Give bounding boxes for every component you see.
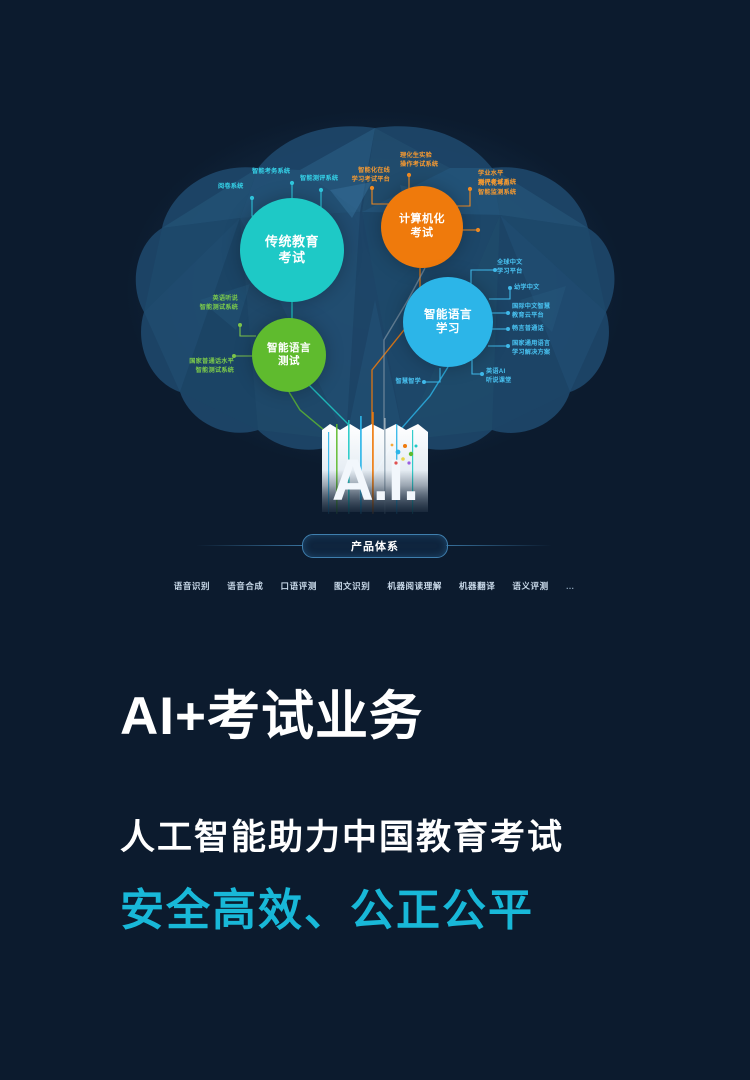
node-computerized-exam[interactable]: 计算机化 考试 [381,186,463,268]
node-traditional-education-exam[interactable]: 传统教育 考试 [240,198,344,302]
node-label-line2: 学习 [436,322,460,336]
headline-block: AI+考试业务 人工智能助力中国教育考试 安全高效、公正公平 [0,640,750,1080]
keyword-item: 机器翻译 [459,580,495,592]
node-label-line2: 考试 [411,227,434,241]
leaf-label-smart-exam-admin-system: 智能考务系统 [252,168,290,177]
product-system-label: 产品体系 [351,538,399,554]
page-subtitle: 人工智能助力中国教育考试 [120,820,564,855]
pill-rule-right [446,545,552,546]
pill-rule-left [196,545,302,546]
leaf-label-lab-operation-exam-system: 理化生实验 操作考试系统 [400,152,438,170]
ai-logo-text: A.I. [332,448,418,513]
book-base: A.I. [316,412,436,518]
node-label-line1: 智能语言 [267,342,311,355]
leaf-label-national-putonghua-test-system: 国家普通话水平 智能测试系统 [178,358,234,376]
keyword-item: 图文识别 [334,580,370,592]
keyword-ellipsis: … [566,581,577,591]
keyword-item: 语音识别 [174,580,210,592]
keyword-item: 口语评测 [281,580,317,592]
node-label-line1: 传统教育 [265,234,319,250]
keyword-item: 语义评测 [512,580,548,592]
leaf-label-kids-chinese: 幼学中文 [514,284,540,293]
leaf-label-english-listening-speaking-test-system: 英语听说 智能测试系统 [186,295,238,313]
node-label-line1: 智能语言 [424,308,472,322]
node-label-line2: 考试 [278,250,305,266]
page-title: AI+考试业务 [120,690,423,743]
leaf-label-changyan-putonghua: 畅言普通话 [512,325,544,334]
leaf-label-modern-exam-site-monitor-system: 现代化考点 智能监测系统 [478,180,516,198]
page-root: A.I. 传统教育 考试 计算机化 考试 [0,0,750,1080]
node-smart-language-learning[interactable]: 智能语言 学习 [403,277,493,367]
keyword-list: 语音识别 语音合成 口语评测 图文识别 机器阅读理解 机器翻译 语义评测 … [0,580,750,592]
node-smart-language-testing[interactable]: 智能语言 测试 [252,318,326,392]
node-label-line1: 计算机化 [399,213,445,227]
leaf-label-smart-teaching: 智慧智学 [385,378,421,387]
node-label-line2: 测试 [278,355,300,368]
keyword-item: 机器阅读理解 [387,580,442,592]
leaf-label-global-chinese-learning-platform: 全球中文 学习平台 [497,259,523,277]
product-system-pill[interactable]: 产品体系 [302,534,448,558]
hero-illustration: A.I. 传统教育 考试 计算机化 考试 [0,0,750,640]
keyword-item: 语音合成 [227,580,263,592]
leaf-label-marking-system: 阅卷系统 [218,183,244,192]
leaf-label-national-language-learning-solution: 国家通用语言 学习解决方案 [512,340,550,358]
leaf-label-intl-chinese-smart-edu-cloud: 国际中文智慧 教育云平台 [512,303,550,321]
page-slogan: 安全高效、公正公平 [120,889,534,933]
leaf-label-online-learning-exam-platform: 智能化在线 学习考试平台 [330,167,390,185]
leaf-label-english-ai-listening-speaking-class: 英语AI 听说课堂 [486,368,512,386]
